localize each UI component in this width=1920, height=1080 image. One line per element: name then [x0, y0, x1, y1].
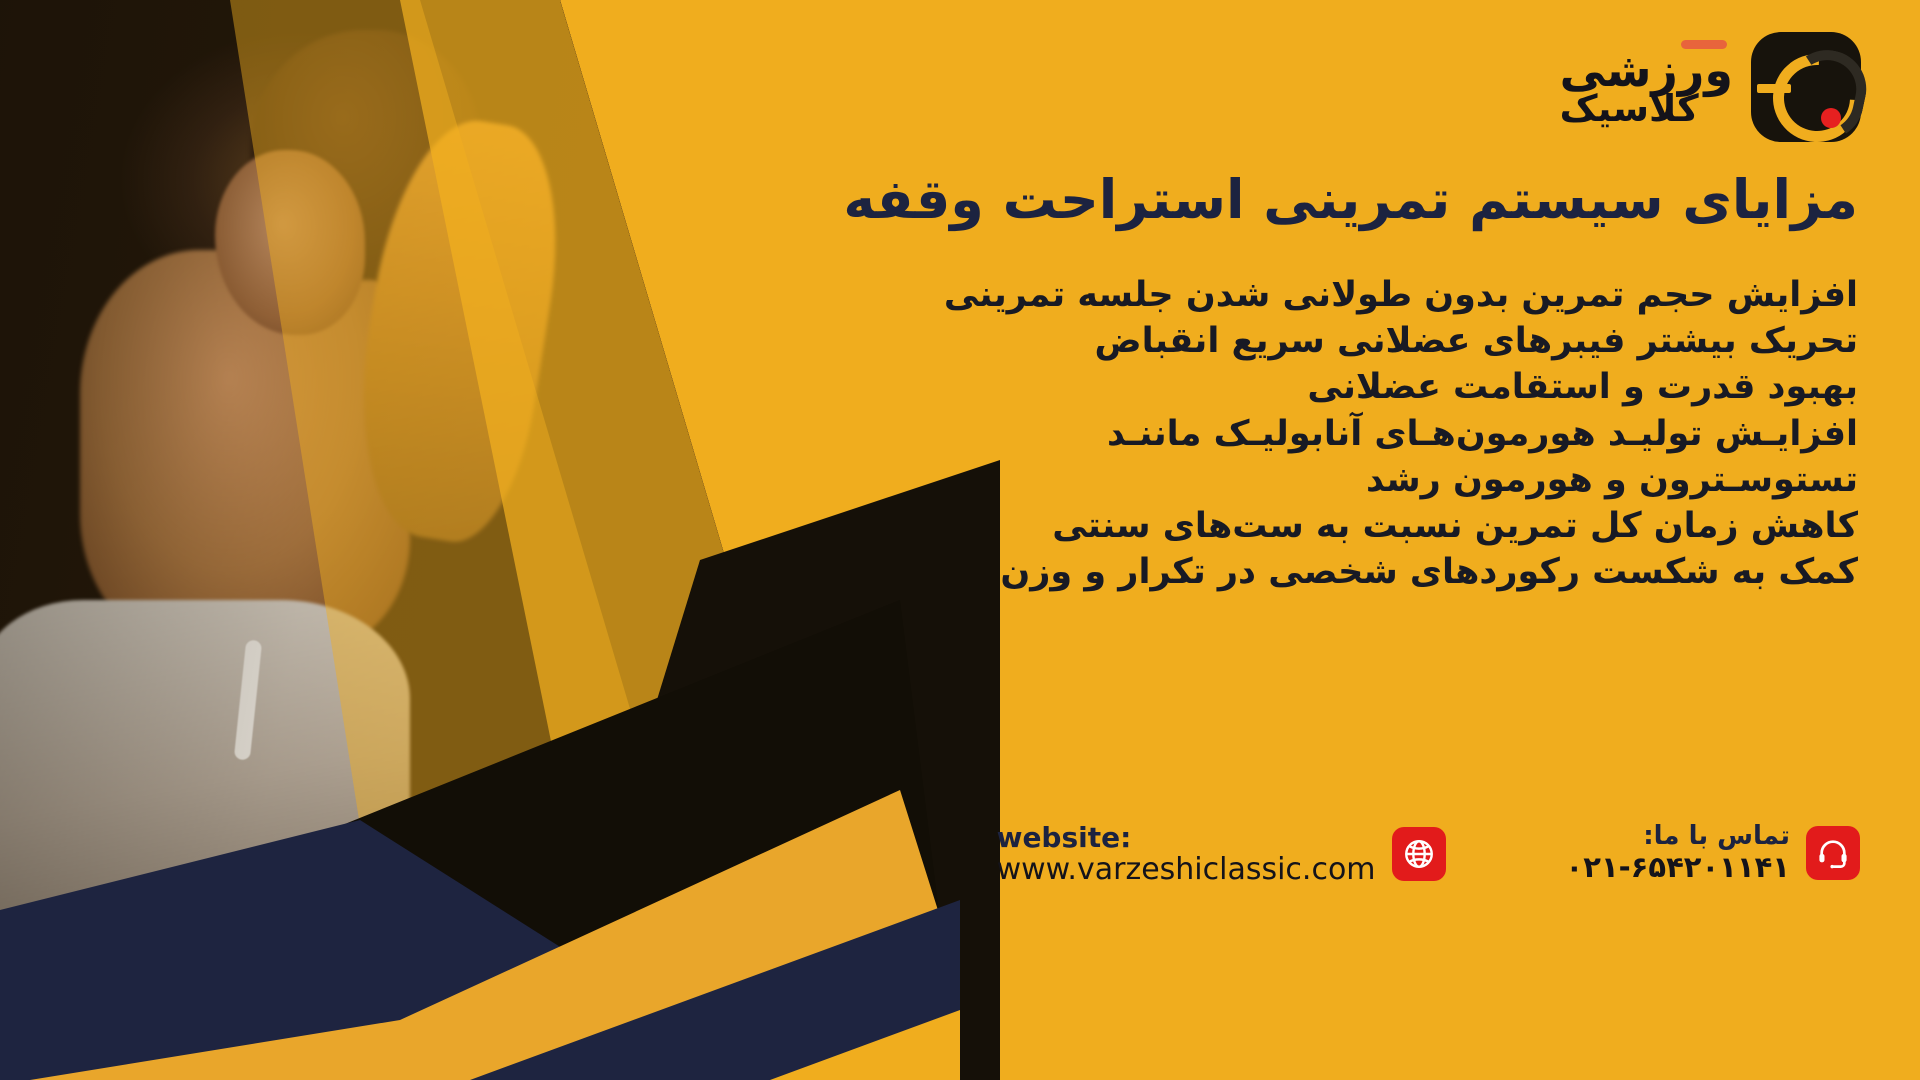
- headset-icon: [1806, 826, 1860, 880]
- contact-phone[interactable]: تماس با ما: ۰۲۱-۶۵۴۲۰۱۱۴۱: [1566, 822, 1860, 884]
- list-item: تحریک بیشتر فیبرهای عضلانی سریع انقباض: [918, 318, 1858, 364]
- list-item: بهبود قدرت و استقامت عضلانی: [918, 364, 1858, 410]
- contact-website-label: website:: [997, 822, 1376, 853]
- contact-phone-text: تماس با ما: ۰۲۱-۶۵۴۲۰۱۱۴۱: [1566, 822, 1790, 884]
- brand-logo[interactable]: ورزشی کلاسیک: [1560, 28, 1865, 146]
- globe-icon: [1392, 827, 1446, 881]
- contact-website-value[interactable]: www.varzeshiclassic.com: [997, 853, 1376, 887]
- varzeshi-classic-monogram-icon: [1747, 28, 1865, 146]
- list-item: کمک به شکست رکوردهای شخصی در تکرار و وزن: [918, 549, 1858, 595]
- contact-phone-value: ۰۲۱-۶۵۴۲۰۱۱۴۱: [1566, 851, 1790, 883]
- list-item: کاهش زمان کل تمرین نسبت به ست‌های سنتی: [918, 503, 1858, 549]
- benefits-list: افزایش حجم تمرین بدون طولانی شدن جلسه تم…: [918, 272, 1858, 595]
- contact-website-text: website: www.varzeshiclassic.com: [997, 822, 1376, 887]
- contact-bar: تماس با ما: ۰۲۱-۶۵۴۲۰۱۱۴۱ website:: [860, 822, 1860, 887]
- content-panel: ورزشی کلاسیک مزایای سیستم تمرینی استراحت…: [840, 0, 1920, 1080]
- brand-word-top: ورزشی: [1560, 47, 1733, 94]
- page-title: مزایای سیستم تمرینی استراحت وقفه: [843, 168, 1858, 231]
- list-item: افزایش حجم تمرین بدون طولانی شدن جلسه تم…: [918, 272, 1858, 318]
- poster-canvas: ورزشی کلاسیک مزایای سیستم تمرینی استراحت…: [0, 0, 1920, 1080]
- brand-wordmark: ورزشی کلاسیک: [1560, 47, 1733, 128]
- contact-phone-label: تماس با ما:: [1566, 822, 1790, 851]
- contact-website[interactable]: website: www.varzeshiclassic.com: [997, 822, 1446, 887]
- list-item: افزایـش تولیـد هورمون‌هـای آنابولیـک مان…: [918, 411, 1858, 503]
